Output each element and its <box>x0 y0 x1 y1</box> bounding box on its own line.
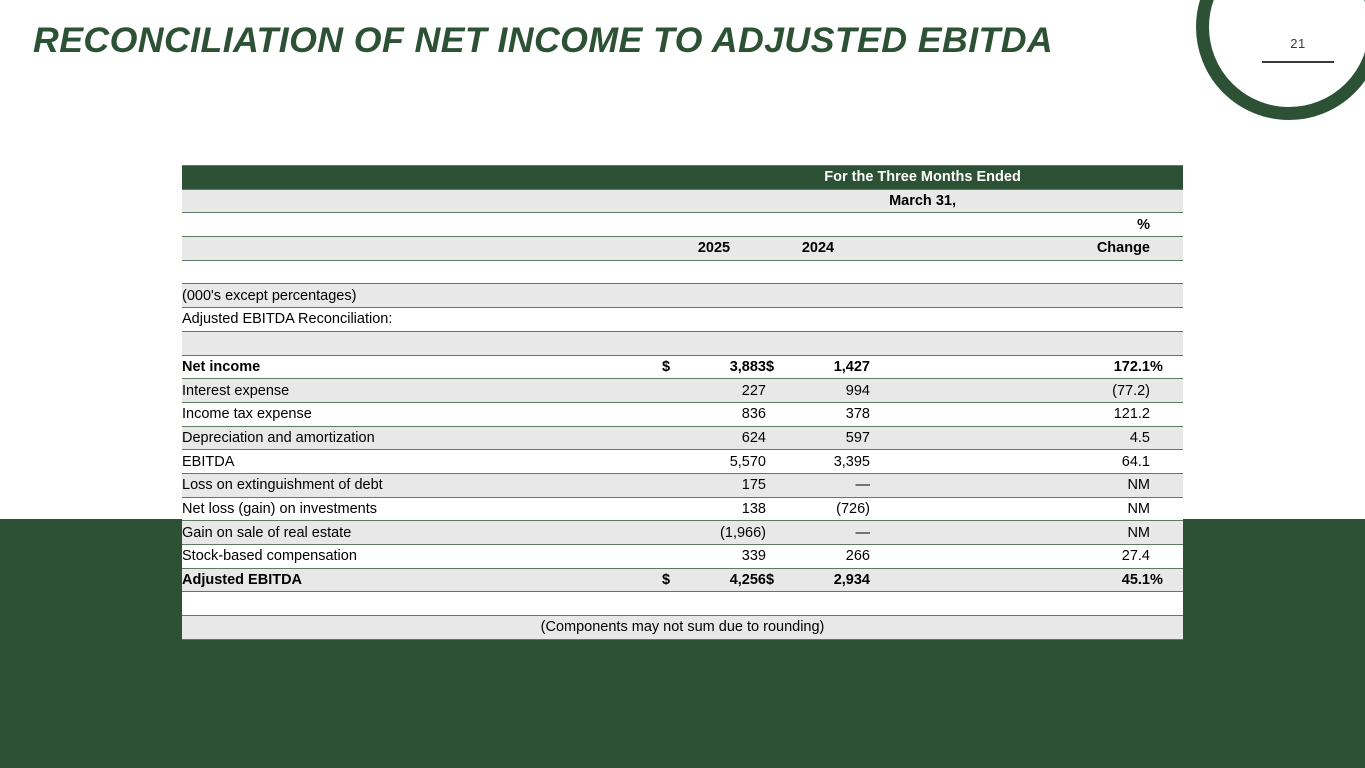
table-spacer-row-3 <box>182 592 1183 616</box>
table-row: Depreciation and amortization 624 5974.5 <box>182 426 1183 450</box>
row-value-2024: 2,934 <box>788 568 870 592</box>
header-percent-symbol: % <box>870 213 1150 237</box>
table-row: Loss on extinguishment of debt 175 —NM <box>182 473 1183 497</box>
row-currency-2025: $ <box>662 568 684 592</box>
table-spacer-row-2 <box>182 331 1183 355</box>
row-value-2024: 994 <box>788 379 870 403</box>
row-currency-2024: $ <box>766 568 788 592</box>
page-title: RECONCILIATION OF NET INCOME TO ADJUSTED… <box>33 19 1053 63</box>
header-date-label: March 31, <box>662 189 1183 213</box>
header-spacer-2025 <box>662 213 684 237</box>
row-value-2025: 624 <box>684 426 766 450</box>
row-label: Interest expense <box>182 379 662 403</box>
row-value-change: 4.5 <box>870 426 1150 450</box>
header-period-label: For the Three Months Ended <box>662 166 1183 190</box>
header-spacer-pct2 <box>1150 237 1183 261</box>
row-currency-2025: $ <box>662 355 684 379</box>
row-label: Income tax expense <box>182 402 662 426</box>
row-value-2025: 175 <box>684 473 766 497</box>
table-row: Net income$3,883$1,427172.1% <box>182 355 1183 379</box>
row-currency-2025 <box>662 545 684 569</box>
row-label: Net loss (gain) on investments <box>182 497 662 521</box>
row-percent-symbol <box>1150 450 1183 474</box>
row-value-2025: 836 <box>684 402 766 426</box>
ebitda-reconciliation-table: For the Three Months Ended March 31, % 2… <box>182 165 1183 640</box>
spacer-cell <box>182 260 1183 284</box>
row-percent-symbol <box>1150 545 1183 569</box>
slide-canvas: 21 RECONCILIATION OF NET INCOME TO ADJUS… <box>0 0 1365 768</box>
units-note: (000's except percentages) <box>182 284 1183 308</box>
row-value-change: 45.1 <box>870 568 1150 592</box>
header-spacer-2025b <box>684 213 766 237</box>
row-currency-2025 <box>662 473 684 497</box>
row-value-2025: 339 <box>684 545 766 569</box>
row-value-change: NM <box>870 497 1150 521</box>
row-value-2024: — <box>788 521 870 545</box>
header-spacer <box>182 166 662 190</box>
header-col-2025: 2025 <box>662 237 766 261</box>
row-value-change: 121.2 <box>870 402 1150 426</box>
row-percent-symbol: % <box>1150 355 1183 379</box>
row-label: Loss on extinguishment of debt <box>182 473 662 497</box>
table-header-date-row: March 31, <box>182 189 1183 213</box>
table-row: EBITDA 5,570 3,39564.1 <box>182 450 1183 474</box>
row-value-2025: 5,570 <box>684 450 766 474</box>
row-value-change: 27.4 <box>870 545 1150 569</box>
page-number: 21 <box>1262 36 1334 51</box>
row-currency-2025 <box>662 402 684 426</box>
table-row: Income tax expense 836 378121.2 <box>182 402 1183 426</box>
row-value-2024: 3,395 <box>788 450 870 474</box>
row-value-2024: (726) <box>788 497 870 521</box>
header-col-change: Change <box>870 237 1150 261</box>
row-value-2024: 1,427 <box>788 355 870 379</box>
table-header-period-row: For the Three Months Ended <box>182 166 1183 190</box>
table-spacer-row <box>182 260 1183 284</box>
row-value-2024: — <box>788 473 870 497</box>
row-percent-symbol <box>1150 521 1183 545</box>
spacer-cell-2 <box>182 331 1183 355</box>
table-units-row: (000's except percentages) <box>182 284 1183 308</box>
row-value-2025: 3,883 <box>684 355 766 379</box>
row-currency-2024 <box>766 497 788 521</box>
row-currency-2024 <box>766 545 788 569</box>
row-currency-2025 <box>662 450 684 474</box>
row-value-2025: 227 <box>684 379 766 403</box>
row-value-2024: 266 <box>788 545 870 569</box>
header-spacer <box>182 189 662 213</box>
table-row: Adjusted EBITDA$4,256$2,93445.1% <box>182 568 1183 592</box>
row-value-2024: 597 <box>788 426 870 450</box>
row-value-change: NM <box>870 521 1150 545</box>
row-label: Adjusted EBITDA <box>182 568 662 592</box>
row-currency-2024 <box>766 402 788 426</box>
row-label: Stock-based compensation <box>182 545 662 569</box>
page-number-rule <box>1262 61 1334 63</box>
header-spacer-2024 <box>766 213 788 237</box>
row-label: Gain on sale of real estate <box>182 521 662 545</box>
row-value-2025: 4,256 <box>684 568 766 592</box>
header-spacer <box>182 237 662 261</box>
table-row: Interest expense 227 994(77.2) <box>182 379 1183 403</box>
row-value-change: 172.1 <box>870 355 1150 379</box>
ring-icon <box>1196 0 1365 120</box>
header-spacer-2024b <box>788 213 870 237</box>
table-row: Gain on sale of real estate (1,966) —NM <box>182 521 1183 545</box>
table-row: Net loss (gain) on investments 138 (726)… <box>182 497 1183 521</box>
row-value-change: (77.2) <box>870 379 1150 403</box>
table-row: Stock-based compensation 339 26627.4 <box>182 545 1183 569</box>
table-header-percent-row: % <box>182 213 1183 237</box>
row-percent-symbol <box>1150 379 1183 403</box>
header-spacer <box>182 213 662 237</box>
row-value-change: 64.1 <box>870 450 1150 474</box>
row-currency-2024: $ <box>766 355 788 379</box>
row-currency-2025 <box>662 379 684 403</box>
row-label: EBITDA <box>182 450 662 474</box>
row-value-2025: 138 <box>684 497 766 521</box>
row-currency-2025 <box>662 497 684 521</box>
row-currency-2024 <box>766 521 788 545</box>
table-footnote-row: (Components may not sum due to rounding) <box>182 616 1183 640</box>
header-col-2024: 2024 <box>766 237 870 261</box>
row-label: Net income <box>182 355 662 379</box>
row-percent-symbol <box>1150 402 1183 426</box>
row-currency-2025 <box>662 521 684 545</box>
row-percent-symbol: % <box>1150 568 1183 592</box>
row-value-2024: 378 <box>788 402 870 426</box>
row-currency-2024 <box>766 426 788 450</box>
decorative-ring-container <box>1196 0 1365 134</box>
table-footnote: (Components may not sum due to rounding) <box>182 616 1183 640</box>
row-currency-2024 <box>766 450 788 474</box>
row-value-2025: (1,966) <box>684 521 766 545</box>
row-currency-2025 <box>662 426 684 450</box>
row-currency-2024 <box>766 379 788 403</box>
section-note: Adjusted EBITDA Reconciliation: <box>182 308 1183 332</box>
row-percent-symbol <box>1150 426 1183 450</box>
row-percent-symbol <box>1150 473 1183 497</box>
table-section-row: Adjusted EBITDA Reconciliation: <box>182 308 1183 332</box>
spacer-cell-3 <box>182 592 1183 616</box>
row-value-change: NM <box>870 473 1150 497</box>
row-percent-symbol <box>1150 497 1183 521</box>
row-currency-2024 <box>766 473 788 497</box>
row-label: Depreciation and amortization <box>182 426 662 450</box>
table-header-columns-row: 20252024Change <box>182 237 1183 261</box>
header-spacer-pct <box>1150 213 1183 237</box>
